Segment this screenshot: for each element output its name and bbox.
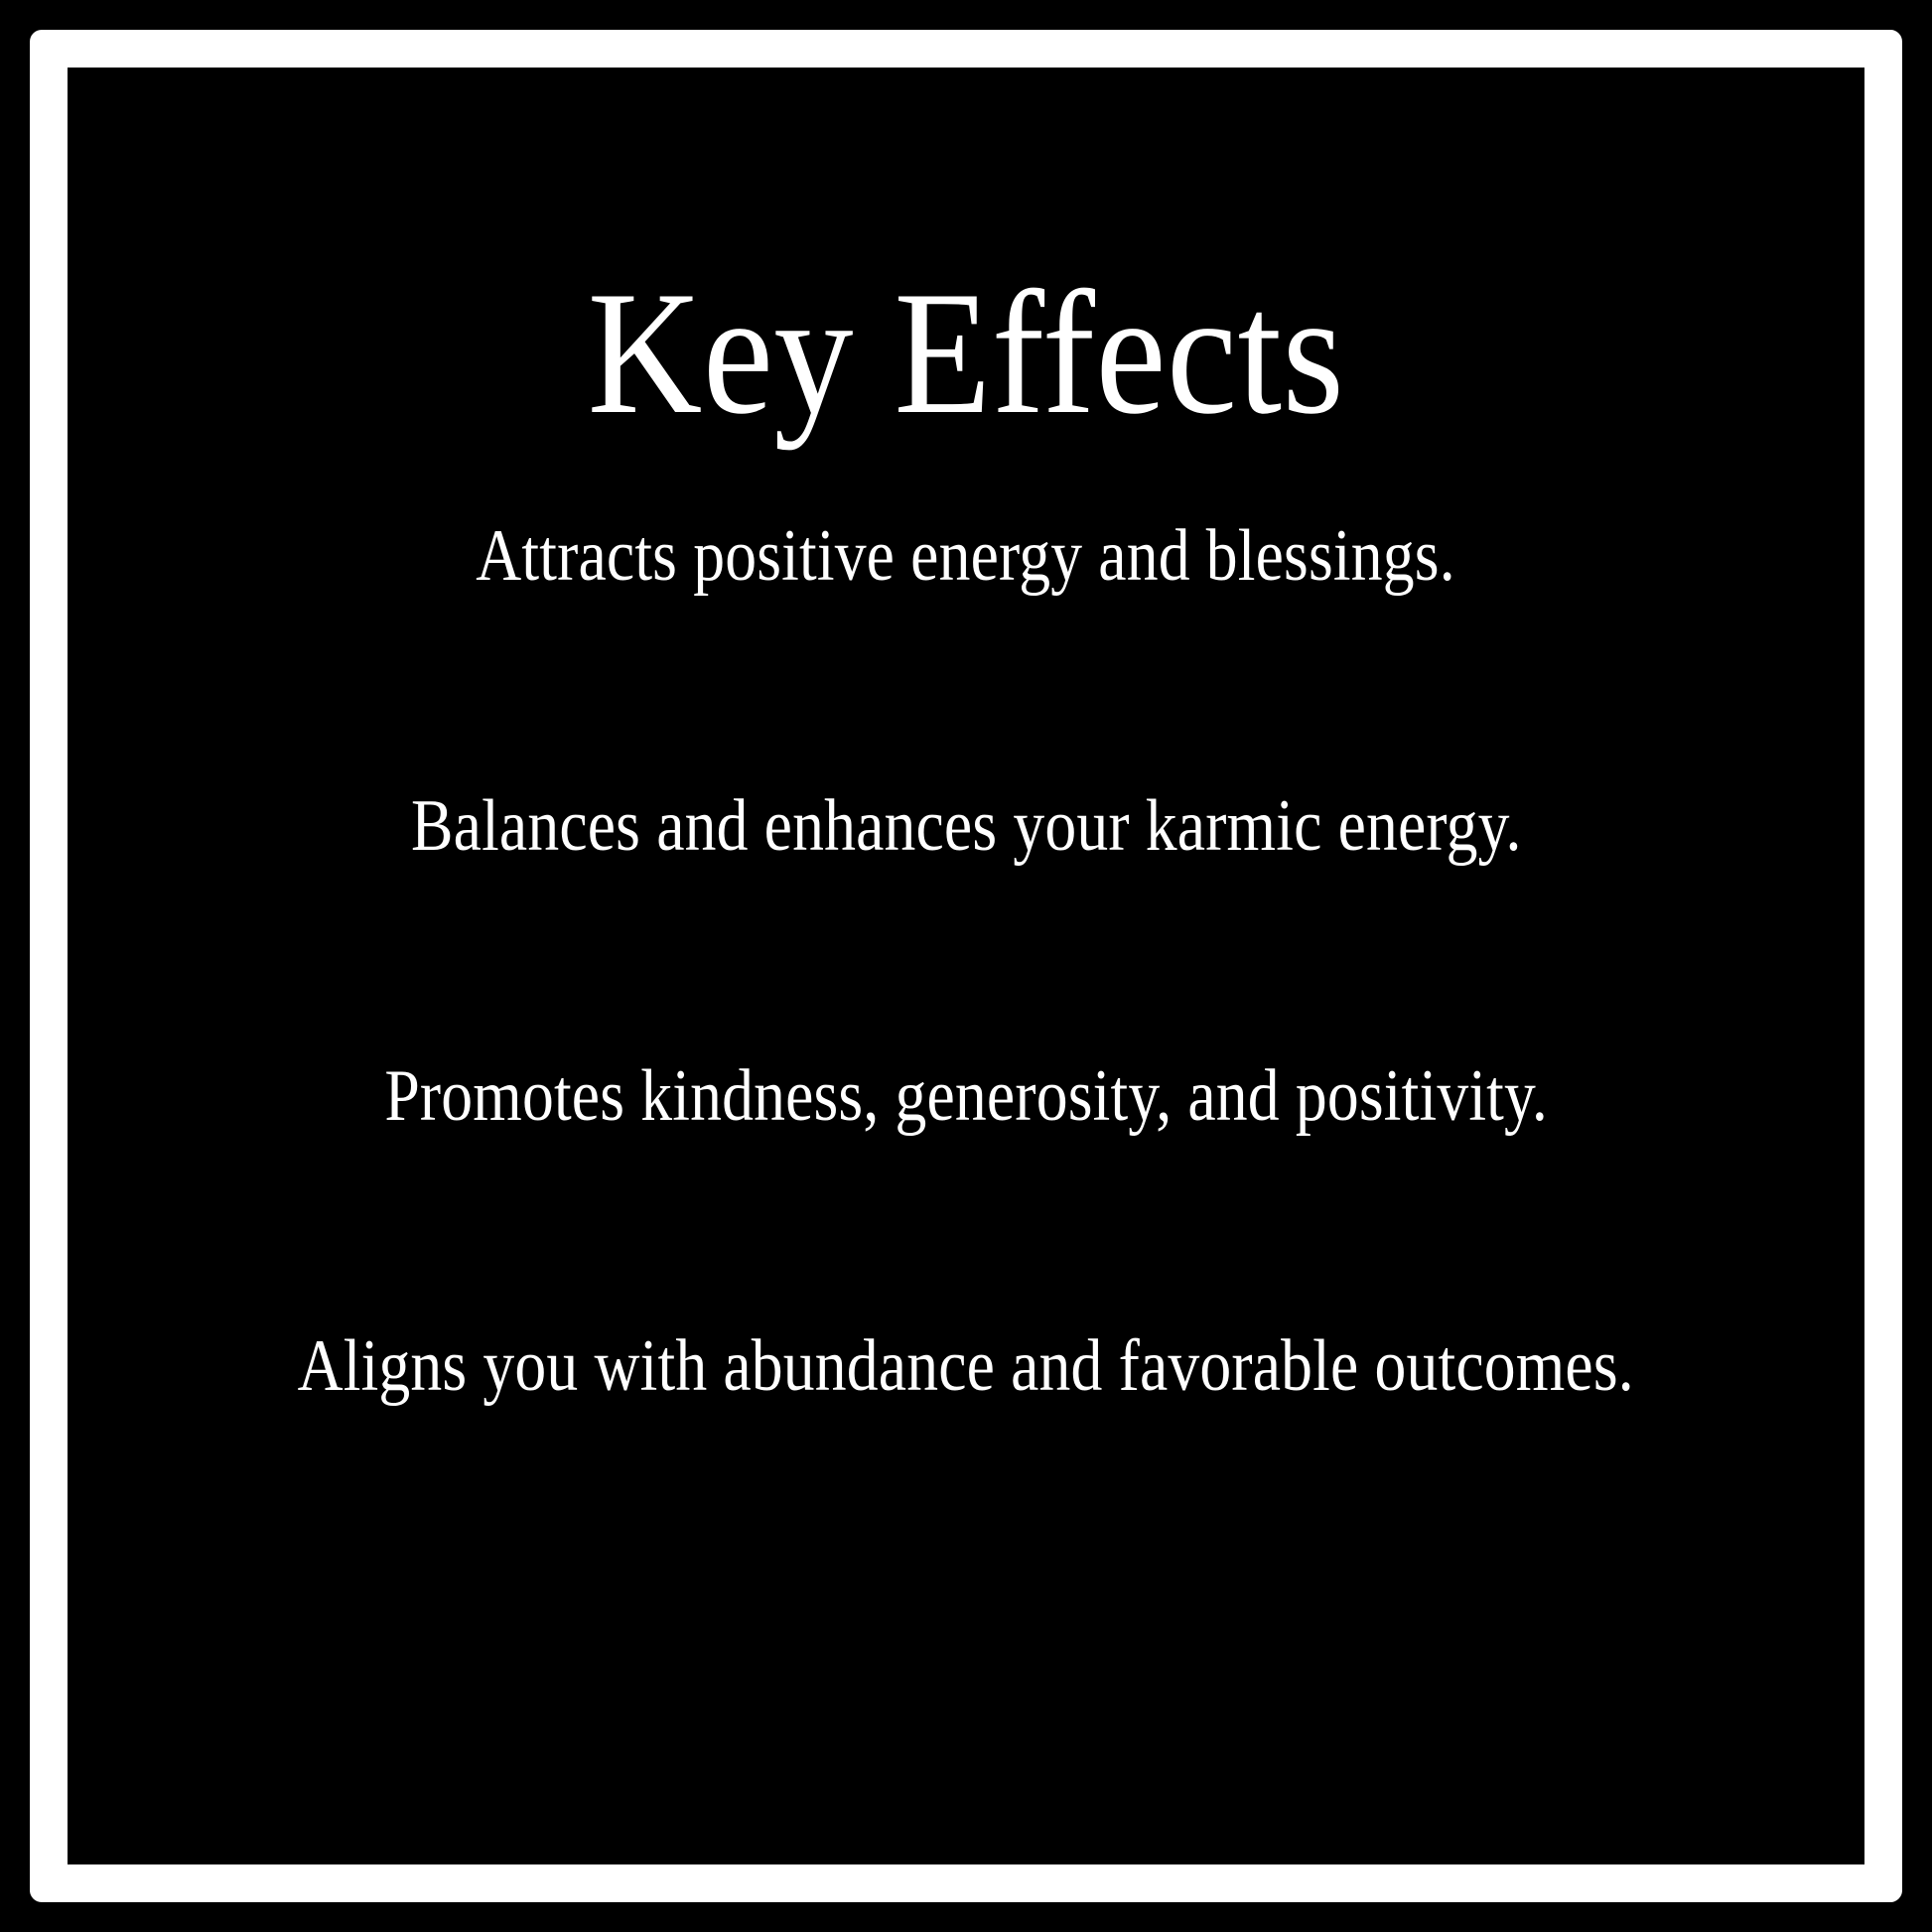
effect-text: Balances and enhances your karmic energy… xyxy=(411,789,1522,863)
poster-content-panel: Key Effects Attracts positive energy and… xyxy=(68,68,1864,1864)
list-item: Promotes kindness, generosity, and posit… xyxy=(68,1059,1864,1329)
poster-canvas: Key Effects Attracts positive energy and… xyxy=(0,0,1932,1932)
list-item: Aligns you with abundance and favorable … xyxy=(68,1329,1864,1599)
key-effects-list: Attracts positive energy and blessings. … xyxy=(68,519,1864,1599)
effect-text: Aligns you with abundance and favorable … xyxy=(298,1329,1634,1403)
effect-text: Promotes kindness, generosity, and posit… xyxy=(384,1059,1548,1133)
list-item: Attracts positive energy and blessings. xyxy=(68,519,1864,789)
page-title: Key Effects xyxy=(158,257,1775,448)
effect-text: Attracts positive energy and blessings. xyxy=(477,519,1455,593)
list-item: Balances and enhances your karmic energy… xyxy=(68,789,1864,1059)
